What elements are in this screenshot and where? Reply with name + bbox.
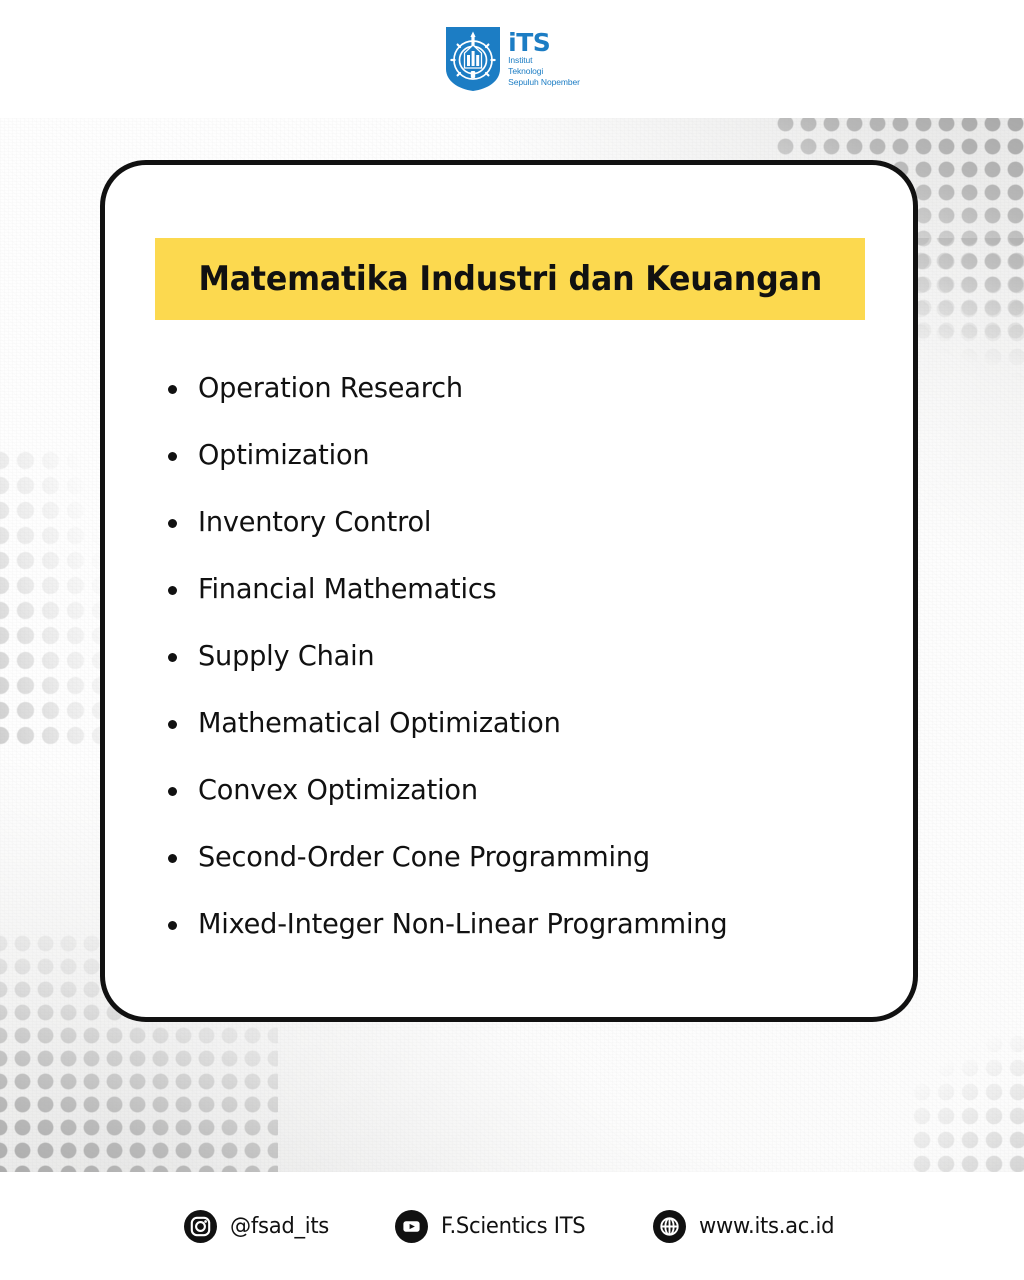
halftone-dots-bottom-right [910,1032,1024,1172]
bullet-dot-icon [168,586,177,595]
footer-link-instagram[interactable]: @fsad_its [184,1210,333,1243]
bullet-dot-icon [168,720,177,729]
globe-icon [653,1210,686,1243]
its-institution-line1: Institut [508,56,580,66]
list-item-label: Operation Research [198,372,463,404]
list-item: Inventory Control [168,506,868,573]
its-wordmark: iTS Institut Teknologi Sepuluh Nopember [508,30,580,88]
list-item: Operation Research [168,372,868,439]
page-title: Matematika Industri dan Keuangan [198,259,822,299]
list-item-label: Optimization [198,439,369,471]
footer-link-youtube[interactable]: F.Scientics ITS [395,1210,591,1243]
list-item-label: Inventory Control [198,506,431,538]
bullet-dot-icon [168,653,177,662]
bullet-dot-icon [168,921,177,930]
its-logo-lockup: iTS Institut Teknologi Sepuluh Nopember [444,25,580,93]
bullet-dot-icon [168,854,177,863]
list-item-label: Mixed-Integer Non-Linear Programming [198,908,727,940]
instagram-icon [184,1210,217,1243]
title-banner: Matematika Industri dan Keuangan [155,238,865,320]
footer-link-website[interactable]: www.its.ac.id [653,1210,840,1243]
list-item-label: Convex Optimization [198,774,478,806]
bullet-dot-icon [168,519,177,528]
list-item: Financial Mathematics [168,573,868,640]
bullet-dot-icon [168,385,177,394]
list-item-label: Supply Chain [198,640,374,672]
its-institution-line2: Teknologi [508,67,580,77]
youtube-icon [395,1210,428,1243]
its-wordmark-text: iTS [508,30,580,55]
list-item: Supply Chain [168,640,868,707]
list-item: Mixed-Integer Non-Linear Programming [168,908,868,975]
footer-link-label: @fsad_its [230,1214,329,1239]
header-bar: iTS Institut Teknologi Sepuluh Nopember [0,0,1024,118]
topic-list: Operation Research Optimization Inventor… [168,372,868,975]
list-item-label: Second-Order Cone Programming [198,841,650,873]
footer-link-label: www.its.ac.id [699,1214,834,1239]
list-item: Convex Optimization [168,774,868,841]
list-item: Second-Order Cone Programming [168,841,868,908]
footer-bar: @fsad_its F.Scientics ITS www.it [0,1172,1024,1280]
footer-link-label: F.Scientics ITS [441,1214,585,1239]
list-item: Optimization [168,439,868,506]
halftone-dots-left [0,448,108,748]
list-item-label: Financial Mathematics [198,573,497,605]
list-item-label: Mathematical Optimization [198,707,561,739]
bullet-dot-icon [168,452,177,461]
bullet-dot-icon [168,787,177,796]
its-institution-line3: Sepuluh Nopember [508,78,580,88]
list-item: Mathematical Optimization [168,707,868,774]
its-shield-logo [444,25,502,93]
